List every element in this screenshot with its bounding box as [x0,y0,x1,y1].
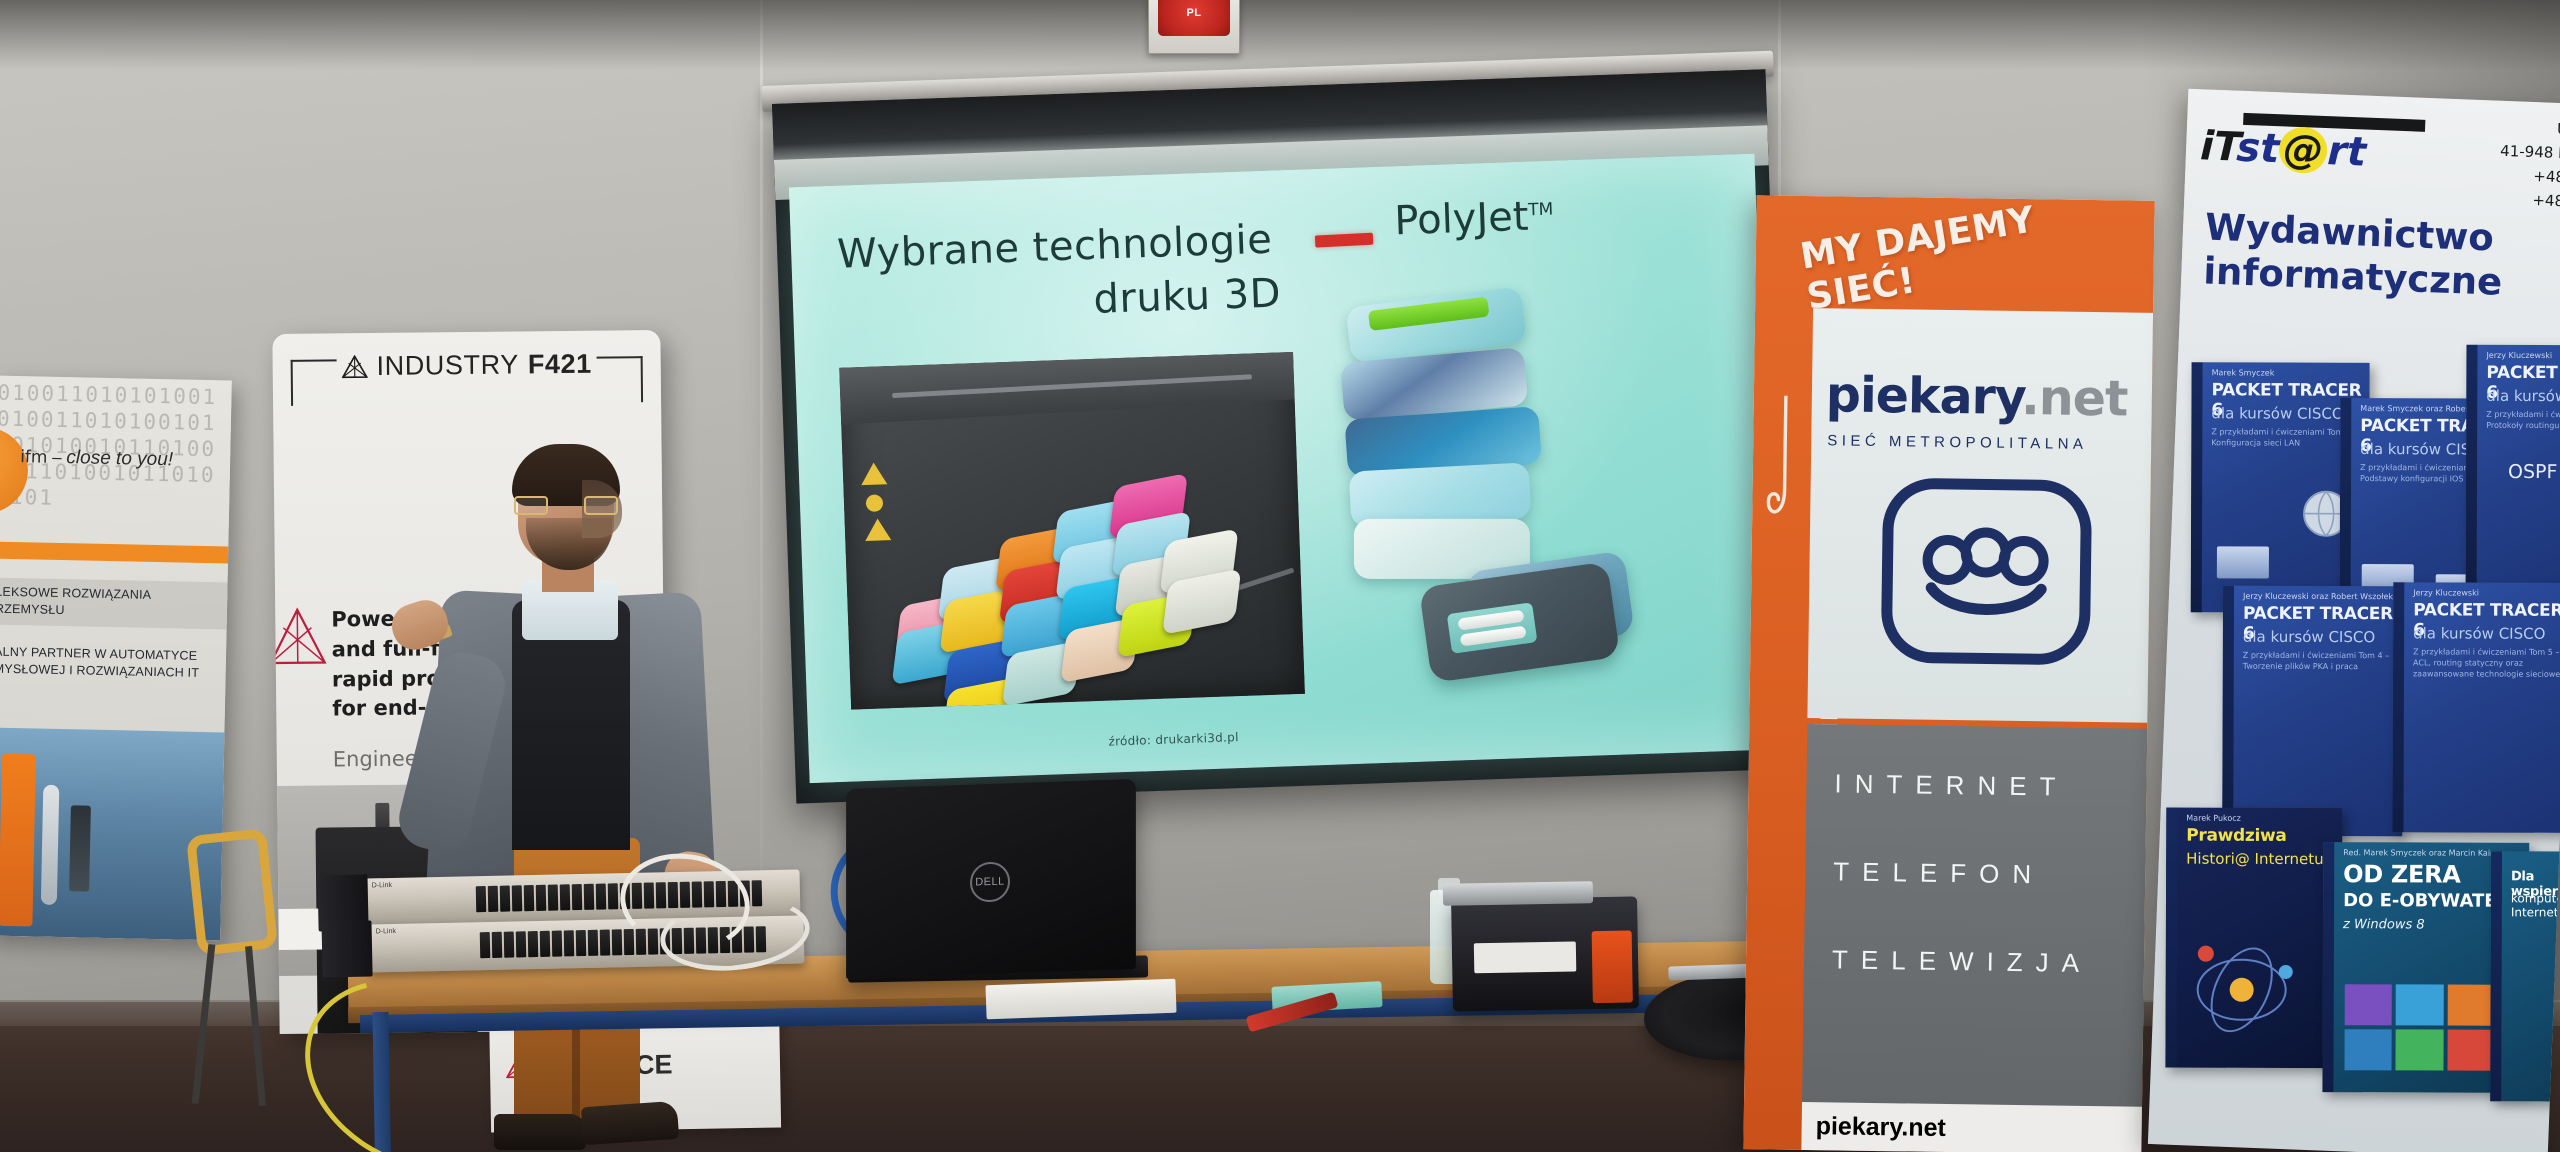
book-spine [2165,808,2177,1068]
projection-screen: Wybrane technologie druku 3D PolyJetTM [772,69,1790,803]
itstart-phone-line-2: +48 6 [2498,187,2560,214]
warning-triangle-icon [861,462,888,485]
glasses-lens-left [514,496,548,515]
book-subtitle: dla kursów CISCO [2211,404,2343,422]
piekary-logo-panel: piekary.net SIEĆ METROPOLITALNA [1807,308,2153,723]
banner-piekary-net: MY DAJEMY SIEĆ! ...dają rybę, inni dają … [1743,195,2154,1152]
piekary-logo-subtitle: SIEĆ METROPOLITALNA [1827,432,2087,453]
laptop[interactable]: DELL [846,779,1136,979]
ifm-brand: ifm [20,447,48,468]
book-subtitle: komputera i Internetu [2511,891,2560,919]
warning-triangle-icon-2 [865,518,892,541]
slide-technology-name: PolyJetTM [1394,193,1555,245]
paper-stack [985,979,1176,1020]
ifm-product-photo [0,728,224,941]
book-cover: Jerzy Kluczewski PACKET TRACER 6 dla kur… [2466,345,2560,596]
f421-header: INDUSTRY F421 [273,348,661,383]
slide-title-line2: druku 3D [838,266,1300,336]
book-subtitle: dla kursów CISCO [2413,624,2545,642]
shell-1-green-insert [1368,297,1490,331]
banner-itstart: iTst@rt UL. 41-948 Pie +48 6 +48 6 Wydaw… [2148,89,2560,1152]
piekary-service-telewizja: TELEWIZJA [1832,944,2092,979]
book-subtitle: Histori@ Internetu [2186,850,2324,868]
itstart-address-line-1: UL. [2501,115,2560,142]
itstart-address-line-2: 41-948 Pie [2500,139,2560,166]
book-detail: Z przykładami i ćwiczeniami Tom 5 – ACL,… [2413,646,2560,680]
warning-dot-icon [866,494,884,512]
piekary-service-internet: INTERNET [1834,768,2068,802]
slide-photo-printer-tray [839,352,1305,710]
book-subtitle: dla kursów CISCO [2243,628,2375,646]
book-author: Jerzy Kluczewski [2413,588,2479,597]
itstart-logo-it: iT [2199,123,2237,170]
fishing-hook-icon [1764,395,1806,546]
battery-compartment [1447,602,1538,654]
ifm-line-4: MYSŁOWEJ I ROZWIĄZANIACH IT [0,661,222,683]
dell-logo-icon: DELL [970,861,1010,902]
itstart-title: Wydawnictwo informatyczne [2203,205,2505,304]
splicer-label [1474,941,1577,973]
itstart-book-covers: Marek Smyczek PACKET TRACER 6 dla kursów… [2148,337,2560,1152]
printed-parts-tray [890,441,1266,695]
itstart-logo-at-icon: @ [2278,126,2328,174]
book-title: Prawdziwa [2186,826,2286,846]
itstart-contact-block: UL. 41-948 Pie +48 6 +48 6 [2498,115,2560,214]
remote-body [1419,561,1621,683]
slide-title: Wybrane technologie druku 3D [836,212,1299,336]
book-cover: Dla wspierających komputera i Internetu [2490,851,2560,1101]
f421-brand: INDUSTRY [376,349,519,381]
glasses-icon [514,496,618,516]
chair-backrest[interactable] [186,828,278,956]
piekary-logo-name: piekary [1826,366,2022,426]
ifm-text-block-1: LEKSOWE ROZWIĄZANIA RZEMYSŁU [0,578,228,629]
book-spine [2490,851,2502,1101]
book-spine [2222,586,2234,836]
splicer-lid [1443,881,1593,906]
book-cover: Jerzy Kluczewski oraz Robert Wszołek PAC… [2222,586,2403,837]
book-author: Jerzy Kluczewski [2486,351,2552,360]
glasses-lens-right [584,496,618,515]
book-spine [2466,345,2478,595]
slide-render-part-stack [1335,288,1699,700]
f421-model: F421 [528,349,592,381]
book-ospf-label: OSPF [2508,461,2557,483]
ifm-line-2: RZEMYSŁU [0,601,223,623]
ifm-sensor-white [41,785,60,905]
presentation-room-photo: PL Wybrane technologie druku 3D PolyJetT… [0,0,2560,1152]
book-detail: Z przykładami i ćwiczeniami Tom 3 – Prot… [2486,409,2560,432]
book-spine [2191,362,2203,612]
piekary-logo: piekary.net [1826,366,2128,427]
3dgence-triangle-icon [341,355,367,379]
book-detail: Z przykładami i ćwiczeniami Tom 4 – Twor… [2243,650,2403,673]
ifm-tagline-rest: close to you! [66,447,173,470]
wall-sign-label: PL [1186,7,1201,19]
book-detail: z Windows 8 [2343,916,2425,934]
ifm-dash: – [52,448,62,467]
slide-technology-label: PolyJet [1394,194,1530,245]
book-cover: Marek Pukocz Prawdziwa Histori@ Internet… [2165,808,2342,1069]
slide-source-caption: źródło: drukarki3d.pl [1108,730,1239,749]
itstart-logo-st: st [2236,125,2281,173]
network-orbit-icon [2182,932,2302,1042]
book-spine [2322,842,2334,1092]
ifm-sensor-black [69,805,91,891]
book-spine [2392,582,2404,832]
slide-dash-icon [1315,233,1374,248]
wall-sign-badge: PL [1158,0,1230,36]
piekary-logo-tld: .net [2021,369,2128,427]
ifm-tagline: ifm – close to you! [20,446,173,471]
windows-tiles-art [2344,984,2494,1071]
shoe-right [581,1101,679,1146]
itstart-logo: iTst@rt [2199,123,2367,175]
book-subtitle: dla kursów CISCO [2486,387,2560,405]
book-title: OD ZERA [2343,860,2461,888]
switch-brand-top: D-Link [372,882,392,889]
shell-4 [1349,462,1532,527]
splicer-orange-panel [1592,930,1633,1003]
book-author: Marek Smyczek [2212,368,2275,377]
switch-brand-bottom: D-Link [376,928,396,935]
book-cover: Jerzy Kluczewski PACKET TRACER 6 dla kur… [2392,582,2560,833]
book-author: Jerzy Kluczewski oraz Robert Wszołek [2243,592,2393,602]
itstart-phone-line-1: +48 6 [2499,163,2560,190]
book-author: Red. Marek Smyczek oraz Marcin Kaim [2343,848,2498,858]
itstart-logo-rt: rt [2326,128,2367,175]
projected-slide: Wybrane technologie druku 3D PolyJetTM [789,154,1775,783]
piekary-footer: piekary.net [1801,1102,2142,1152]
3dgence-red-triangle-icon [272,605,327,668]
ifm-sensor-orange [0,754,36,927]
switch-side-bracket-bottom [321,920,372,977]
piekary-services-panel: INTERNET TELEFON TELEWIZJA [1802,724,2147,1111]
trademark-icon: TM [1528,199,1554,220]
ifm-text-block-2: ALNY PARTNER W AUTOMATYCE MYSŁOWEJ I ROZ… [0,638,226,689]
book-author: Marek Pukocz [2186,814,2241,823]
ifm-orange-bar [0,542,228,564]
piekary-network-emblem-icon [1880,477,2093,666]
piekary-service-telefon: TELEFON [1833,856,2044,890]
fiber-splicer[interactable] [1451,896,1639,1011]
